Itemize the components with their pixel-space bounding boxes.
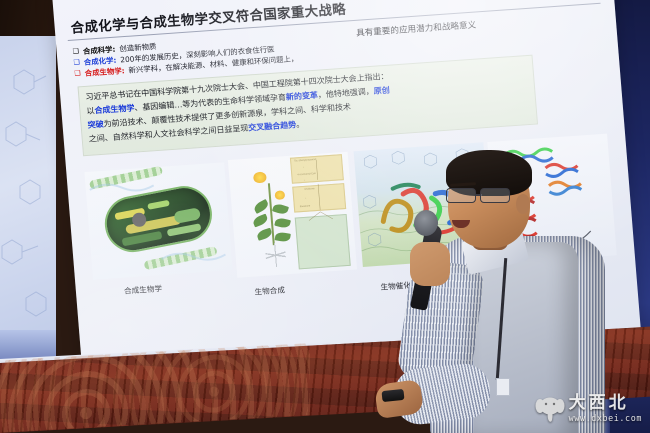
presentation-clicker-icon (381, 389, 404, 402)
bullet-keyword: 合成生物学: (84, 65, 125, 79)
quote-seg: 。 (296, 119, 305, 130)
speaker-hand-holding-microphone (410, 242, 450, 286)
svg-text:↓: ↓ (304, 179, 305, 182)
figure-caption-biosynthesis: 生物合成 (254, 284, 285, 297)
svg-text:flavanone: flavanone (300, 204, 311, 208)
quote-highlight-change: 新的变革 (285, 90, 318, 102)
quote-highlight-convergence: 交叉融合趋势 (248, 119, 297, 132)
svg-text:Tyr, phenylpropanoid: Tyr, phenylpropanoid (294, 158, 317, 163)
bullet-marker-icon: ❑ (72, 46, 79, 57)
figure-synthetic-biology-cell (84, 162, 232, 279)
watermark-text: 大西北 www.dxbei.com (569, 395, 642, 422)
bullet-marker-icon: ❑ (74, 68, 81, 79)
svg-text:↓: ↓ (305, 197, 306, 200)
figure-caption-synthetic-biology: 合成生物学 (124, 283, 163, 297)
watermark: 大西北 www.dxbei.com (535, 395, 642, 423)
svg-text:↓: ↓ (303, 166, 304, 169)
photo-scene: 合成化学与合成生物学交叉符合国家重大战略 ❑ 合成科学: 创造新物质 ❑ 合成化… (0, 0, 650, 433)
svg-text:4-coumaroyl-CoA: 4-coumaroyl-CoA (297, 172, 316, 176)
quote-highlight-original: 原创 (373, 85, 390, 96)
quote-highlight-synbio: 合成生物学 (94, 103, 135, 116)
quote-highlight-breakthrough: 突破 (87, 119, 104, 130)
eyeglasses-icon (446, 188, 524, 204)
speaker-figure (400, 150, 650, 433)
name-badge (496, 378, 510, 396)
elephant-icon (535, 395, 565, 423)
quote-seg: ，他特地强调， (317, 86, 374, 100)
figure-biosynthesis-plant: Tyr, phenylpropanoid↓ 4-coumaroyl-CoA↓ C… (228, 152, 357, 278)
watermark-url: www.dxbei.com (569, 414, 642, 422)
bullet-marker-icon: ❑ (73, 57, 80, 68)
watermark-brand: 大西北 (569, 395, 642, 412)
plant-root-icon (265, 242, 287, 267)
svg-text:Chalcone: Chalcone (304, 187, 315, 191)
